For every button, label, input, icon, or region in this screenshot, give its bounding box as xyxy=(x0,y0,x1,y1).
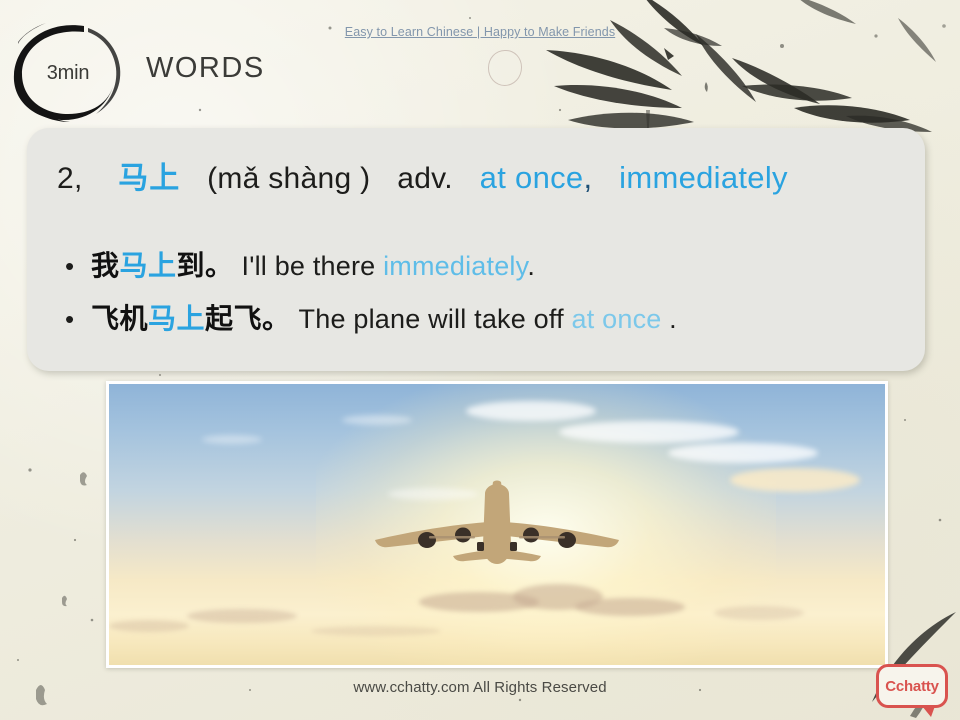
example-english: The plane will take off at once . xyxy=(299,304,677,335)
headword-line: 2, 马上 (mǎ shàng ) adv. at once, immediat… xyxy=(57,153,788,197)
airplane-taking-off-at-sunset-photo xyxy=(109,384,885,665)
cloud xyxy=(187,609,297,623)
example-chinese: 我马上到。 xyxy=(91,244,234,284)
airplane-icon xyxy=(367,480,627,580)
example-english: I'll be there immediately. xyxy=(242,251,535,282)
list-item: • 飞机马上起飞。 The plane will take off at onc… xyxy=(57,297,917,337)
gloss-secondary: immediately xyxy=(619,160,788,195)
slide-canvas: 3min WORDS Easy to Learn Chinese | Happy… xyxy=(0,0,960,720)
headword-pinyin: (mǎ shàng ) xyxy=(207,162,370,195)
cloud xyxy=(109,620,189,632)
cloud xyxy=(559,421,739,443)
cloud xyxy=(730,468,860,492)
cloud xyxy=(202,435,262,444)
bullet-icon: • xyxy=(57,251,91,282)
part-of-speech: adv. xyxy=(397,162,453,195)
copyright-text: www.cchatty.com All Rights Reserved xyxy=(0,679,960,696)
duration-badge-label: 3min xyxy=(10,62,126,85)
example-list: • 我马上到。 I'll be there immediately. • 飞机马… xyxy=(57,244,917,350)
logo-label: Cchatty xyxy=(876,664,948,708)
vocabulary-card: 2, 马上 (mǎ shàng ) adv. at once, immediat… xyxy=(27,128,925,371)
airplane-photo-frame xyxy=(106,381,888,668)
cloud xyxy=(342,415,412,425)
cloud xyxy=(311,626,441,636)
cloud xyxy=(466,401,596,421)
cchatty-logo[interactable]: Cchatty xyxy=(876,664,948,708)
header-tagline-link[interactable]: Easy to Learn Chinese | Happy to Make Fr… xyxy=(0,25,960,39)
entry-number: 2, xyxy=(57,162,83,195)
gloss-separator: , xyxy=(583,160,592,195)
gloss-primary: at once xyxy=(480,160,584,195)
cloud xyxy=(714,606,804,620)
example-chinese: 飞机马上起飞。 xyxy=(91,297,291,337)
headword-hanzi: 马上 xyxy=(118,161,180,196)
list-item: • 我马上到。 I'll be there immediately. xyxy=(57,244,917,284)
decorative-circle-icon xyxy=(488,50,522,86)
bullet-icon: • xyxy=(57,304,91,335)
page-title: WORDS xyxy=(146,52,265,85)
cloud xyxy=(668,443,818,463)
cloud xyxy=(575,598,685,616)
